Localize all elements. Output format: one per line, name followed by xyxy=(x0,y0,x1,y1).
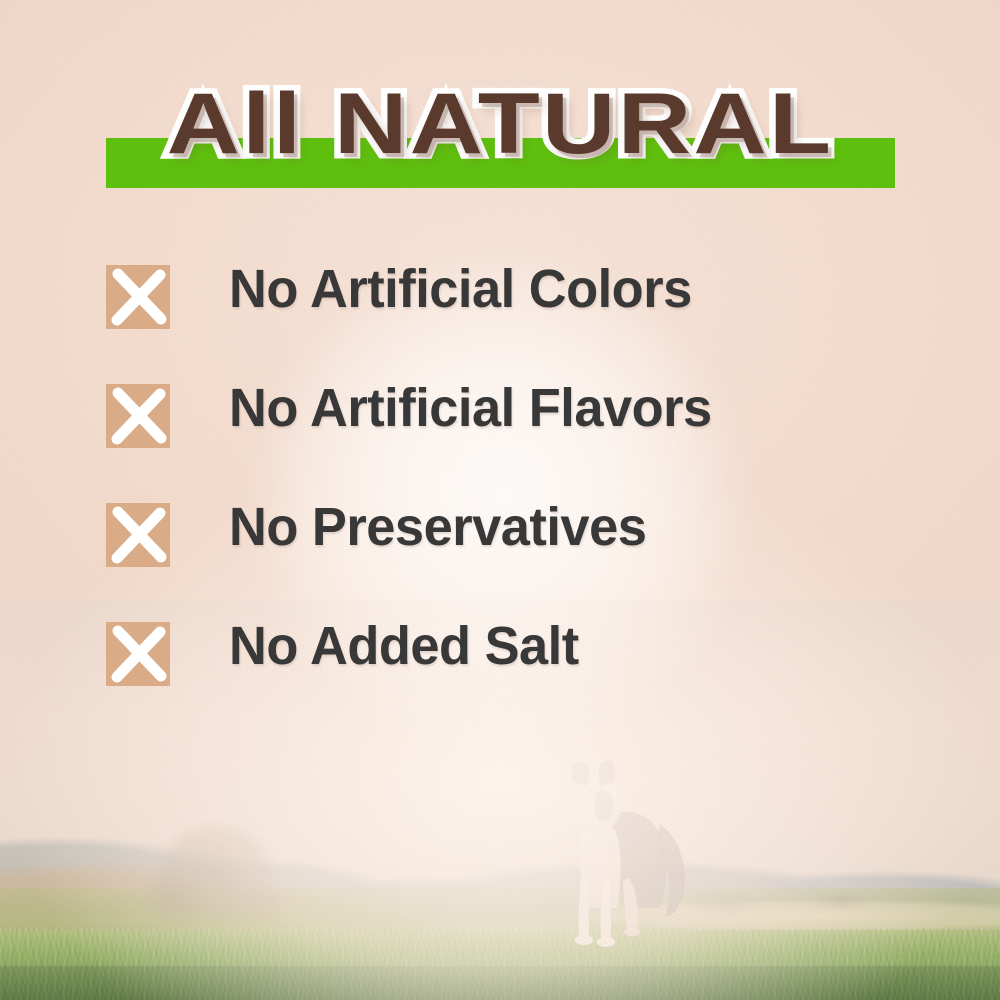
bush-cluster xyxy=(120,800,350,940)
list-item-label: No Added Salt xyxy=(229,615,579,677)
border-collie-dog xyxy=(525,758,715,954)
x-mark-icon xyxy=(106,384,170,448)
feature-list: No Artificial Colors No Artificial Flavo… xyxy=(106,258,926,734)
x-mark-icon xyxy=(106,622,170,686)
headline-block: All NATURAL xyxy=(0,72,1000,192)
page-title: All NATURAL xyxy=(0,72,1000,176)
x-mark-icon xyxy=(106,503,170,567)
x-mark-icon xyxy=(106,265,170,329)
list-item-label: No Artificial Flavors xyxy=(229,377,712,439)
list-item: No Added Salt xyxy=(106,615,926,734)
list-item: No Artificial Colors xyxy=(106,258,926,377)
list-item: No Preservatives xyxy=(106,496,926,615)
list-item-label: No Preservatives xyxy=(229,496,646,558)
list-item: No Artificial Flavors xyxy=(106,377,926,496)
all-natural-feature-panel: All NATURAL No Artificial Colors No Arti… xyxy=(0,0,1000,1000)
list-item-label: No Artificial Colors xyxy=(229,258,692,320)
grass-shadow-band xyxy=(0,966,1000,1000)
